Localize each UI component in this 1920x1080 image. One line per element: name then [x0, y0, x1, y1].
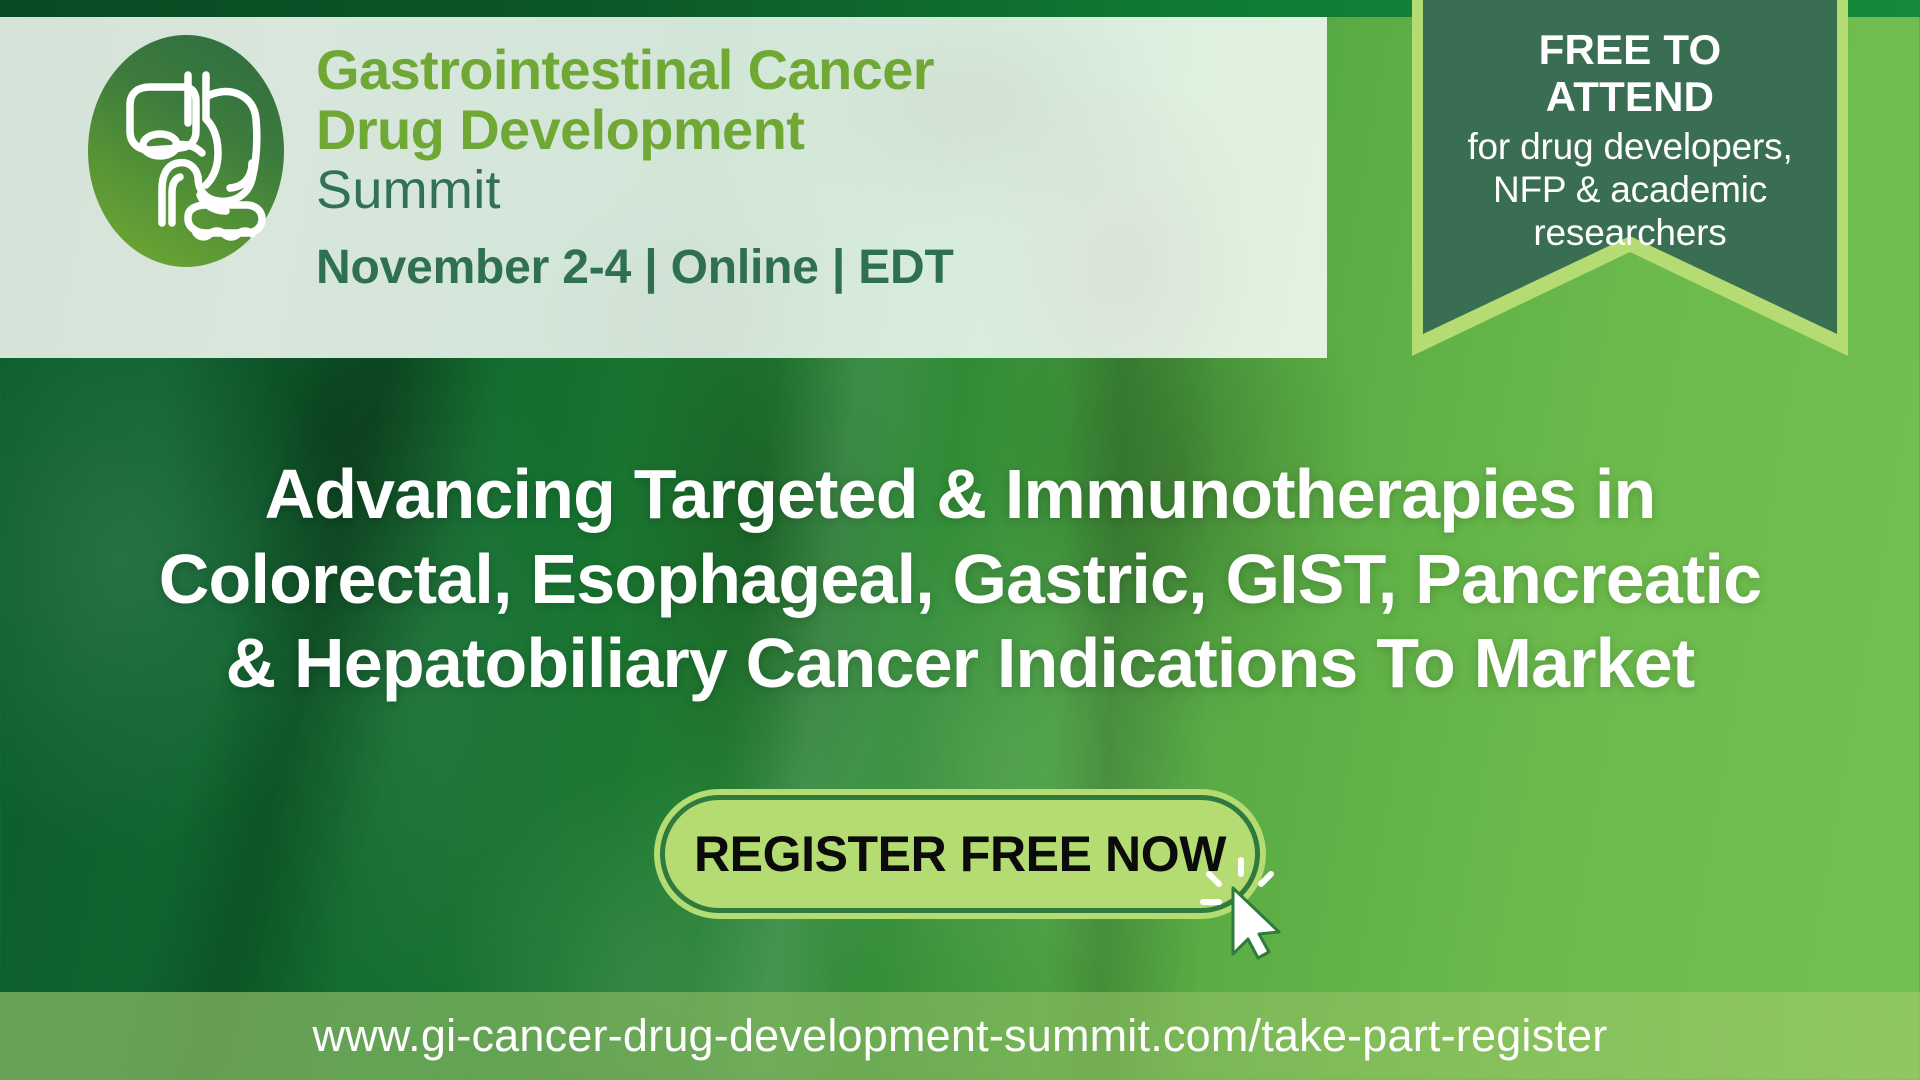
free-to-attend-badge: FREE TO ATTEND for drug developers, NFP …: [1412, 0, 1848, 430]
footer-url-bar: www.gi-cancer-drug-development-summit.co…: [0, 992, 1920, 1080]
event-date-line: November 2-4 | Online | EDT: [316, 242, 954, 295]
register-button-label: REGISTER FREE NOW: [694, 825, 1226, 883]
headline-line-3: & Hepatobiliary Cancer Indications To Ma…: [0, 621, 1920, 706]
title-line-2: Drug Development: [316, 101, 954, 159]
registration-url[interactable]: www.gi-cancer-drug-development-summit.co…: [313, 1010, 1608, 1062]
headline-line-1: Advancing Targeted & Immunotherapies in: [0, 452, 1920, 537]
title-line-1: Gastrointestinal Cancer: [316, 41, 954, 99]
title-line-3: Summit: [316, 160, 954, 222]
digestive-system-icon: [88, 35, 284, 267]
headline-line-2: Colorectal, Esophageal, Gastric, GIST, P…: [0, 537, 1920, 622]
logo-mark: [88, 35, 284, 267]
header-panel: Gastrointestinal Cancer Drug Development…: [0, 17, 1327, 358]
promo-banner: Gastrointestinal Cancer Drug Development…: [0, 0, 1920, 1080]
ribbon-shape-icon: [1412, 0, 1848, 430]
cta-container: REGISTER FREE NOW: [0, 795, 1920, 913]
register-free-now-button[interactable]: REGISTER FREE NOW: [660, 795, 1260, 913]
main-headline: Advancing Targeted & Immunotherapies in …: [0, 452, 1920, 706]
wordmark: Gastrointestinal Cancer Drug Development…: [284, 35, 954, 295]
